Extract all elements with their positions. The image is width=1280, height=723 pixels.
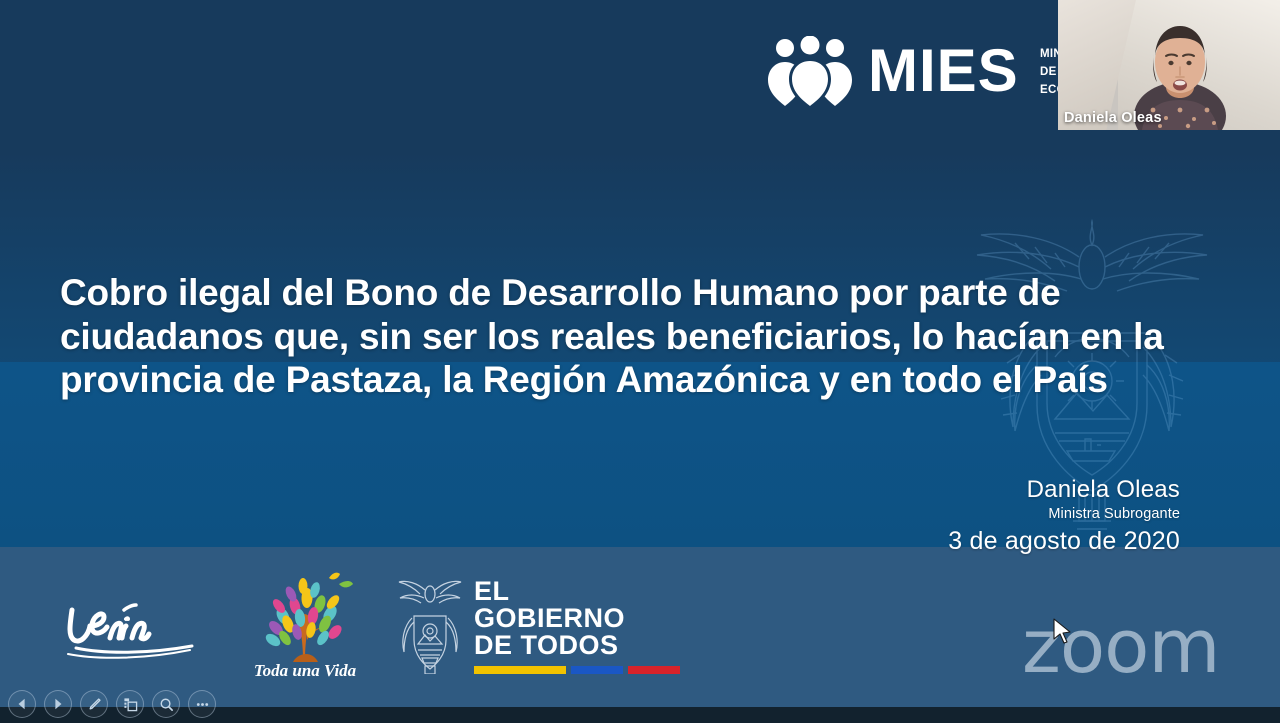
ecuador-flag-bars <box>474 666 680 674</box>
tree-leaves-icon <box>264 573 353 649</box>
gob-line-3: DE TODOS <box>474 632 680 659</box>
mouse-cursor-icon <box>1052 618 1074 648</box>
gob-line-1: EL <box>474 578 680 605</box>
mies-wordmark: MIES <box>868 41 1019 101</box>
slide-title: Cobro ilegal del Bono de Desarrollo Huma… <box>60 271 1200 402</box>
presenter-toolbar <box>8 690 216 718</box>
gobierno-de-todos-text: EL GOBIERNO DE TODOS <box>474 578 680 674</box>
pen-icon <box>87 697 102 712</box>
triangle-right-icon <box>51 697 65 711</box>
magnifier-icon <box>159 697 174 712</box>
mies-logo: MIES <box>768 36 1019 106</box>
presenter-role: Ministra Subrogante <box>948 504 1180 526</box>
next-slide-button[interactable] <box>44 690 72 718</box>
grid-slides-icon <box>123 697 138 712</box>
toda-una-vida-logo: Toda una Vida <box>243 562 368 680</box>
gobierno-de-todos-logo: EL GOBIERNO DE TODOS <box>398 578 680 674</box>
ecuador-shield-icon <box>398 578 462 674</box>
presenter-info: Daniela Oleas Ministra Subrogante 3 de a… <box>948 476 1180 558</box>
presenter-name: Daniela Oleas <box>948 476 1180 504</box>
gob-line-2: GOBIERNO <box>474 605 680 632</box>
flag-bar-red <box>628 666 680 674</box>
ellipsis-icon <box>195 697 210 712</box>
presentation-screen-share: MIES MINISTERIO DE INCLUSIÓN ECONÓMICA Y… <box>0 0 1280 723</box>
triangle-left-icon <box>15 697 29 711</box>
webcam-participant-name: Daniela Oleas <box>1064 110 1162 126</box>
previous-slide-button[interactable] <box>8 690 36 718</box>
svg-text:Toda una Vida: Toda una Vida <box>254 661 357 680</box>
slide-navigator-button[interactable] <box>116 690 144 718</box>
webcam-video-tile[interactable]: Daniela Oleas <box>1058 0 1280 130</box>
slide-date: 3 de agosto de 2020 <box>948 526 1180 557</box>
pen-tool-button[interactable] <box>80 690 108 718</box>
tree-trunk-icon <box>289 614 323 662</box>
more-options-button[interactable] <box>188 690 216 718</box>
toda-una-vida-script-text: Toda una Vida <box>254 661 357 680</box>
mies-three-figures-heart-icon <box>768 36 852 106</box>
zoom-in-button[interactable] <box>152 690 180 718</box>
flag-bar-blue <box>571 666 623 674</box>
lenin-signature-logo <box>62 592 212 664</box>
flag-bar-yellow <box>474 666 566 674</box>
